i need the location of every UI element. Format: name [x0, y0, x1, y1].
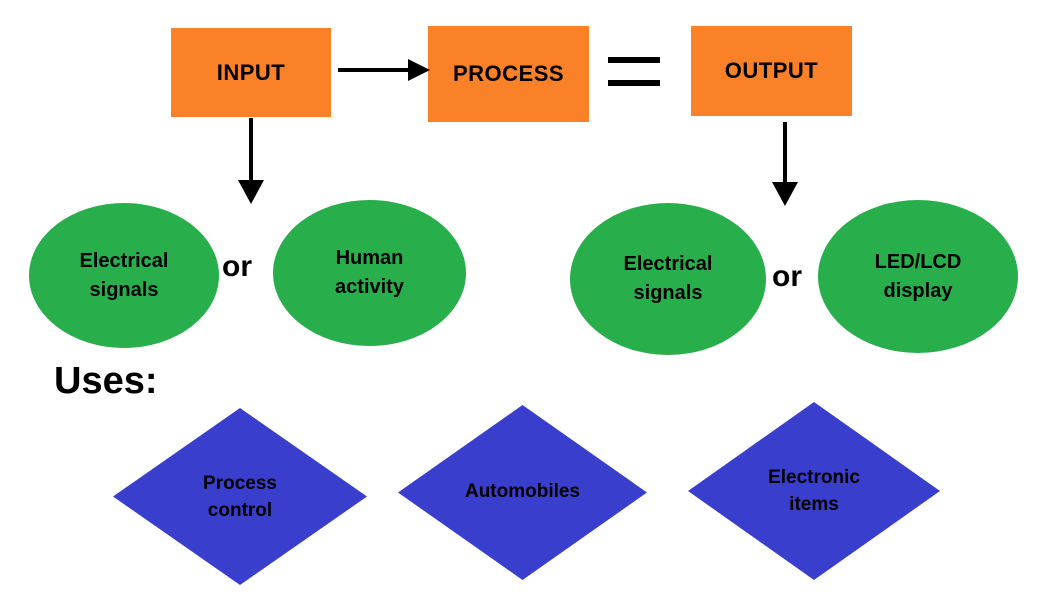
output-option-0-line2: signals [624, 279, 713, 308]
arrow-shaft [249, 118, 253, 184]
flow-box-input[interactable]: INPUT [171, 28, 331, 117]
use-case-1-text: Automobiles [398, 478, 647, 505]
input-option-1-text: Human activity [335, 244, 404, 302]
equals-bar-bottom [608, 80, 660, 86]
output-option-0-line1: Electrical [624, 250, 713, 279]
uses-heading: Uses: [54, 362, 158, 400]
use-case-2-line2: items [688, 491, 940, 518]
equals-icon [608, 55, 660, 89]
arrow-shaft [338, 68, 410, 72]
input-or-label: or [222, 252, 252, 282]
use-case-1-line1: Automobiles [398, 478, 647, 505]
arrow-shaft [783, 122, 787, 186]
use-case-0-line2: control [113, 497, 367, 524]
output-option-led-lcd-display[interactable]: LED/LCD display [818, 200, 1018, 353]
output-option-1-line1: LED/LCD [875, 248, 962, 277]
flow-box-output-label: OUTPUT [725, 60, 818, 82]
output-option-0-text: Electrical signals [624, 250, 713, 308]
input-option-human-activity[interactable]: Human activity [273, 200, 466, 346]
arrow-head [772, 182, 798, 206]
input-option-0-text: Electrical signals [80, 247, 169, 305]
use-case-2-line1: Electronic [688, 464, 940, 491]
equals-bar-top [608, 57, 660, 63]
flow-box-process[interactable]: PROCESS [428, 26, 589, 122]
use-case-process-control[interactable]: Process control [113, 408, 367, 585]
output-or-label: or [772, 262, 802, 292]
use-case-2-text: Electronic items [688, 464, 940, 518]
flow-box-output[interactable]: OUTPUT [691, 26, 852, 116]
use-case-electronic-items[interactable]: Electronic items [688, 402, 940, 580]
use-case-0-line1: Process [113, 470, 367, 497]
output-option-electrical-signals[interactable]: Electrical signals [570, 203, 766, 355]
input-option-1-line2: activity [335, 273, 404, 302]
flow-box-process-label: PROCESS [453, 63, 564, 85]
arrow-head [408, 59, 430, 81]
use-case-automobiles[interactable]: Automobiles [398, 405, 647, 580]
input-option-0-line2: signals [80, 276, 169, 305]
flow-box-input-label: INPUT [217, 62, 286, 84]
input-option-0-line1: Electrical [80, 247, 169, 276]
diagram-canvas: INPUT PROCESS OUTPUT Electrical signals … [0, 0, 1038, 602]
input-option-1-line1: Human [335, 244, 404, 273]
arrow-head [238, 180, 264, 204]
input-option-electrical-signals[interactable]: Electrical signals [29, 203, 219, 348]
output-option-1-text: LED/LCD display [875, 248, 962, 306]
use-case-0-text: Process control [113, 470, 367, 524]
output-option-1-line2: display [875, 277, 962, 306]
